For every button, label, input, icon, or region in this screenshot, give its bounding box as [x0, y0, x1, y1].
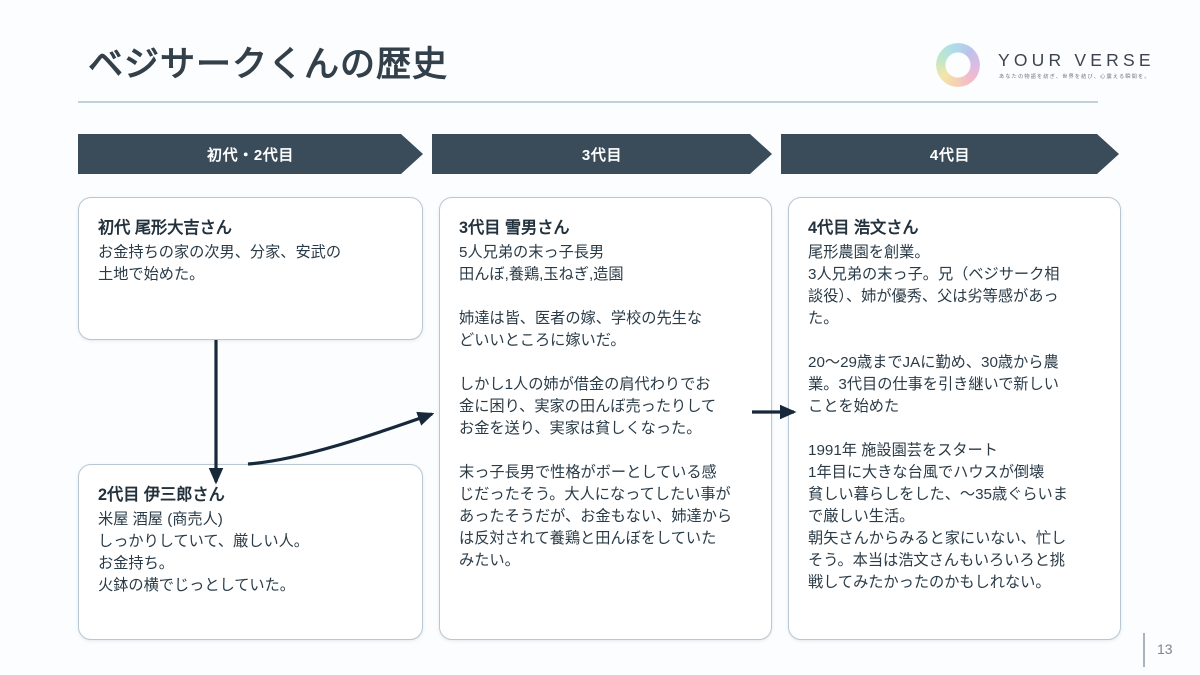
- timeline-step-3[interactable]: 4代目: [781, 134, 1119, 174]
- slide-canvas: ベジサークくんの歴史 YOUR VERSE あなたの物語を紡ぎ、世界を結び、心震…: [0, 0, 1200, 675]
- timeline-step-1[interactable]: 初代・2代目: [78, 134, 423, 174]
- card-heading: 4代目 浩文さん: [808, 217, 1101, 241]
- card-heading: 2代目 伊三郎さん: [98, 484, 403, 508]
- logo-tagline: あなたの物語を紡ぎ、世界を結び、心震える瞬間を。: [999, 73, 1151, 80]
- page-title: ベジサークくんの歴史: [88, 36, 448, 87]
- title-divider: [78, 101, 1098, 103]
- brand-logo: YOUR VERSE あなたの物語を紡ぎ、世界を結び、心震える瞬間を。: [936, 40, 1166, 94]
- card-generation-1[interactable]: 初代 尾形大吉さん お金持ちの家の次男、分家、安武の 土地で始めた。: [78, 197, 423, 340]
- card-generation-2[interactable]: 2代目 伊三郎さん 米屋 酒屋 (商売人) しっかりしていて、厳しい人。 お金持…: [78, 464, 423, 640]
- gradient-ring-icon: [936, 43, 980, 87]
- timeline-step-2[interactable]: 3代目: [432, 134, 772, 174]
- page-number: 13: [1157, 641, 1173, 657]
- card-body: 米屋 酒屋 (商売人) しっかりしていて、厳しい人。 お金持ち。 火鉢の横でじっ…: [98, 509, 403, 597]
- card-heading: 初代 尾形大吉さん: [98, 217, 403, 241]
- card-body: お金持ちの家の次男、分家、安武の 土地で始めた。: [98, 242, 403, 286]
- page-number-divider: [1143, 633, 1145, 667]
- card-generation-4[interactable]: 4代目 浩文さん 尾形農園を創業。 3人兄弟の末っ子。兄（ベジサーク相 談役）、…: [788, 197, 1121, 640]
- card-heading: 3代目 雪男さん: [459, 217, 752, 241]
- arrow-card2-to-card3: [248, 414, 432, 464]
- card-body: 尾形農園を創業。 3人兄弟の末っ子。兄（ベジサーク相 談役）、姉が優秀、父は劣等…: [808, 242, 1101, 595]
- logo-wordmark: YOUR VERSE: [998, 50, 1155, 71]
- card-body: 5人兄弟の末っ子長男 田んぼ,養鶏,玉ねぎ,造園 姉達は皆、医者の嫁、学校の先生…: [459, 242, 752, 572]
- card-generation-3[interactable]: 3代目 雪男さん 5人兄弟の末っ子長男 田んぼ,養鶏,玉ねぎ,造園 姉達は皆、医…: [439, 197, 772, 640]
